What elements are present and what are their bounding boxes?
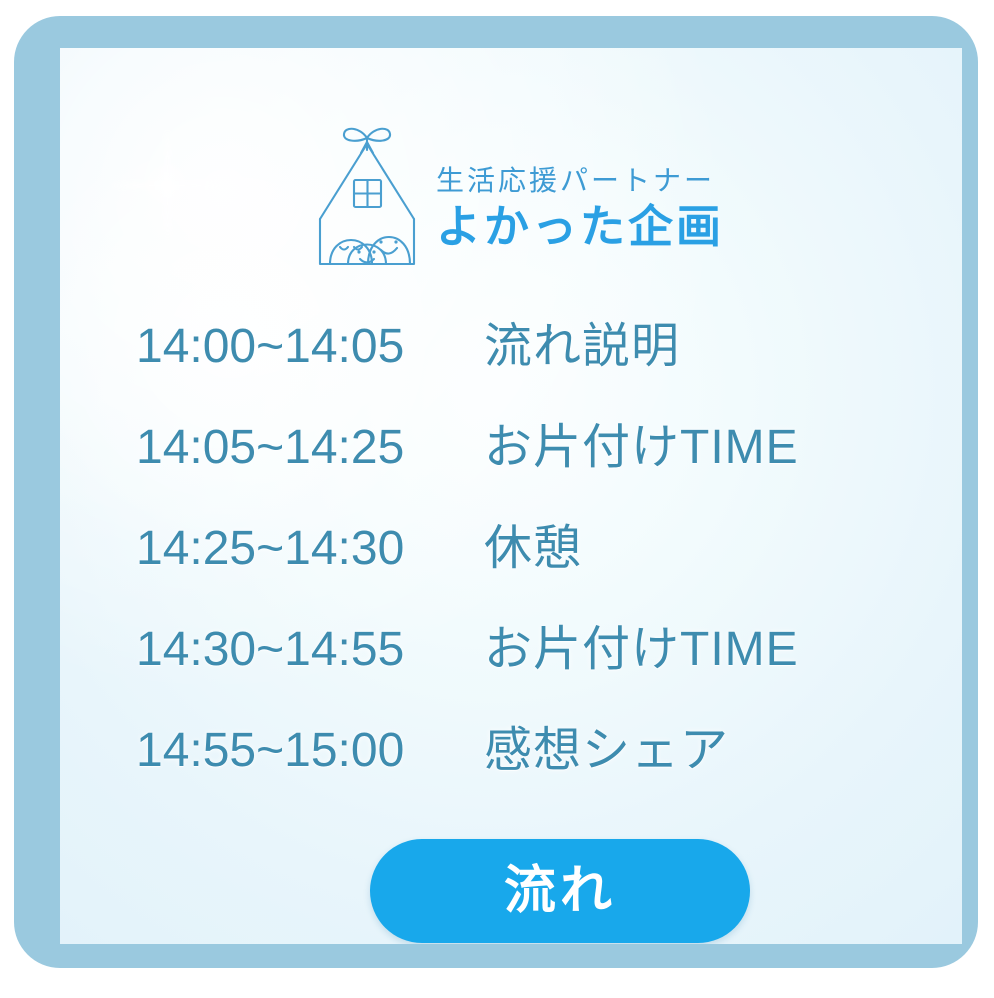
brand-logo-text: 生活応援パートナー よかった企画 xyxy=(436,129,772,253)
flow-cta-button[interactable]: 流れ xyxy=(370,839,750,943)
schedule-label: 感想シェア xyxy=(484,710,936,780)
schedule-time: 14:00~14:05 xyxy=(136,319,484,374)
schedule-time: 14:55~15:00 xyxy=(136,723,484,778)
house-with-family-ribbon-icon xyxy=(312,114,422,269)
flow-cta-label: 流れ xyxy=(504,865,616,917)
schedule-row: 14:55~15:00 感想シェア xyxy=(136,710,936,811)
schedule-label: 流れ説明 xyxy=(484,306,936,376)
brand-name: よかった企画 xyxy=(436,201,772,253)
schedule-time: 14:25~14:30 xyxy=(136,521,484,576)
sparkle-star-glow xyxy=(112,130,222,240)
brand-tagline: 生活応援パートナー xyxy=(436,165,772,197)
schedule-row: 14:00~14:05 流れ説明 xyxy=(136,306,936,407)
schedule-row: 14:25~14:30 休憩 xyxy=(136,508,936,609)
brand-logo: 生活応援パートナー よかった企画 xyxy=(312,96,772,286)
poster-frame-border: 生活応援パートナー よかった企画 14:00~14:05 流れ説明 14:05~… xyxy=(14,16,978,968)
schedule-time: 14:30~14:55 xyxy=(136,622,484,677)
schedule-row: 14:30~14:55 お片付けTIME xyxy=(136,609,936,710)
schedule-time: 14:05~14:25 xyxy=(136,420,484,475)
schedule-label: お片付けTIME xyxy=(484,609,936,679)
poster-canvas: 生活応援パートナー よかった企画 14:00~14:05 流れ説明 14:05~… xyxy=(0,0,994,998)
sparkle-core xyxy=(140,158,194,212)
schedule-row: 14:05~14:25 お片付けTIME xyxy=(136,407,936,508)
poster-inner-panel: 生活応援パートナー よかった企画 14:00~14:05 流れ説明 14:05~… xyxy=(60,48,962,944)
schedule-list: 14:00~14:05 流れ説明 14:05~14:25 お片付けTIME 14… xyxy=(136,306,936,811)
schedule-label: お片付けTIME xyxy=(484,407,936,477)
schedule-label: 休憩 xyxy=(484,508,936,578)
